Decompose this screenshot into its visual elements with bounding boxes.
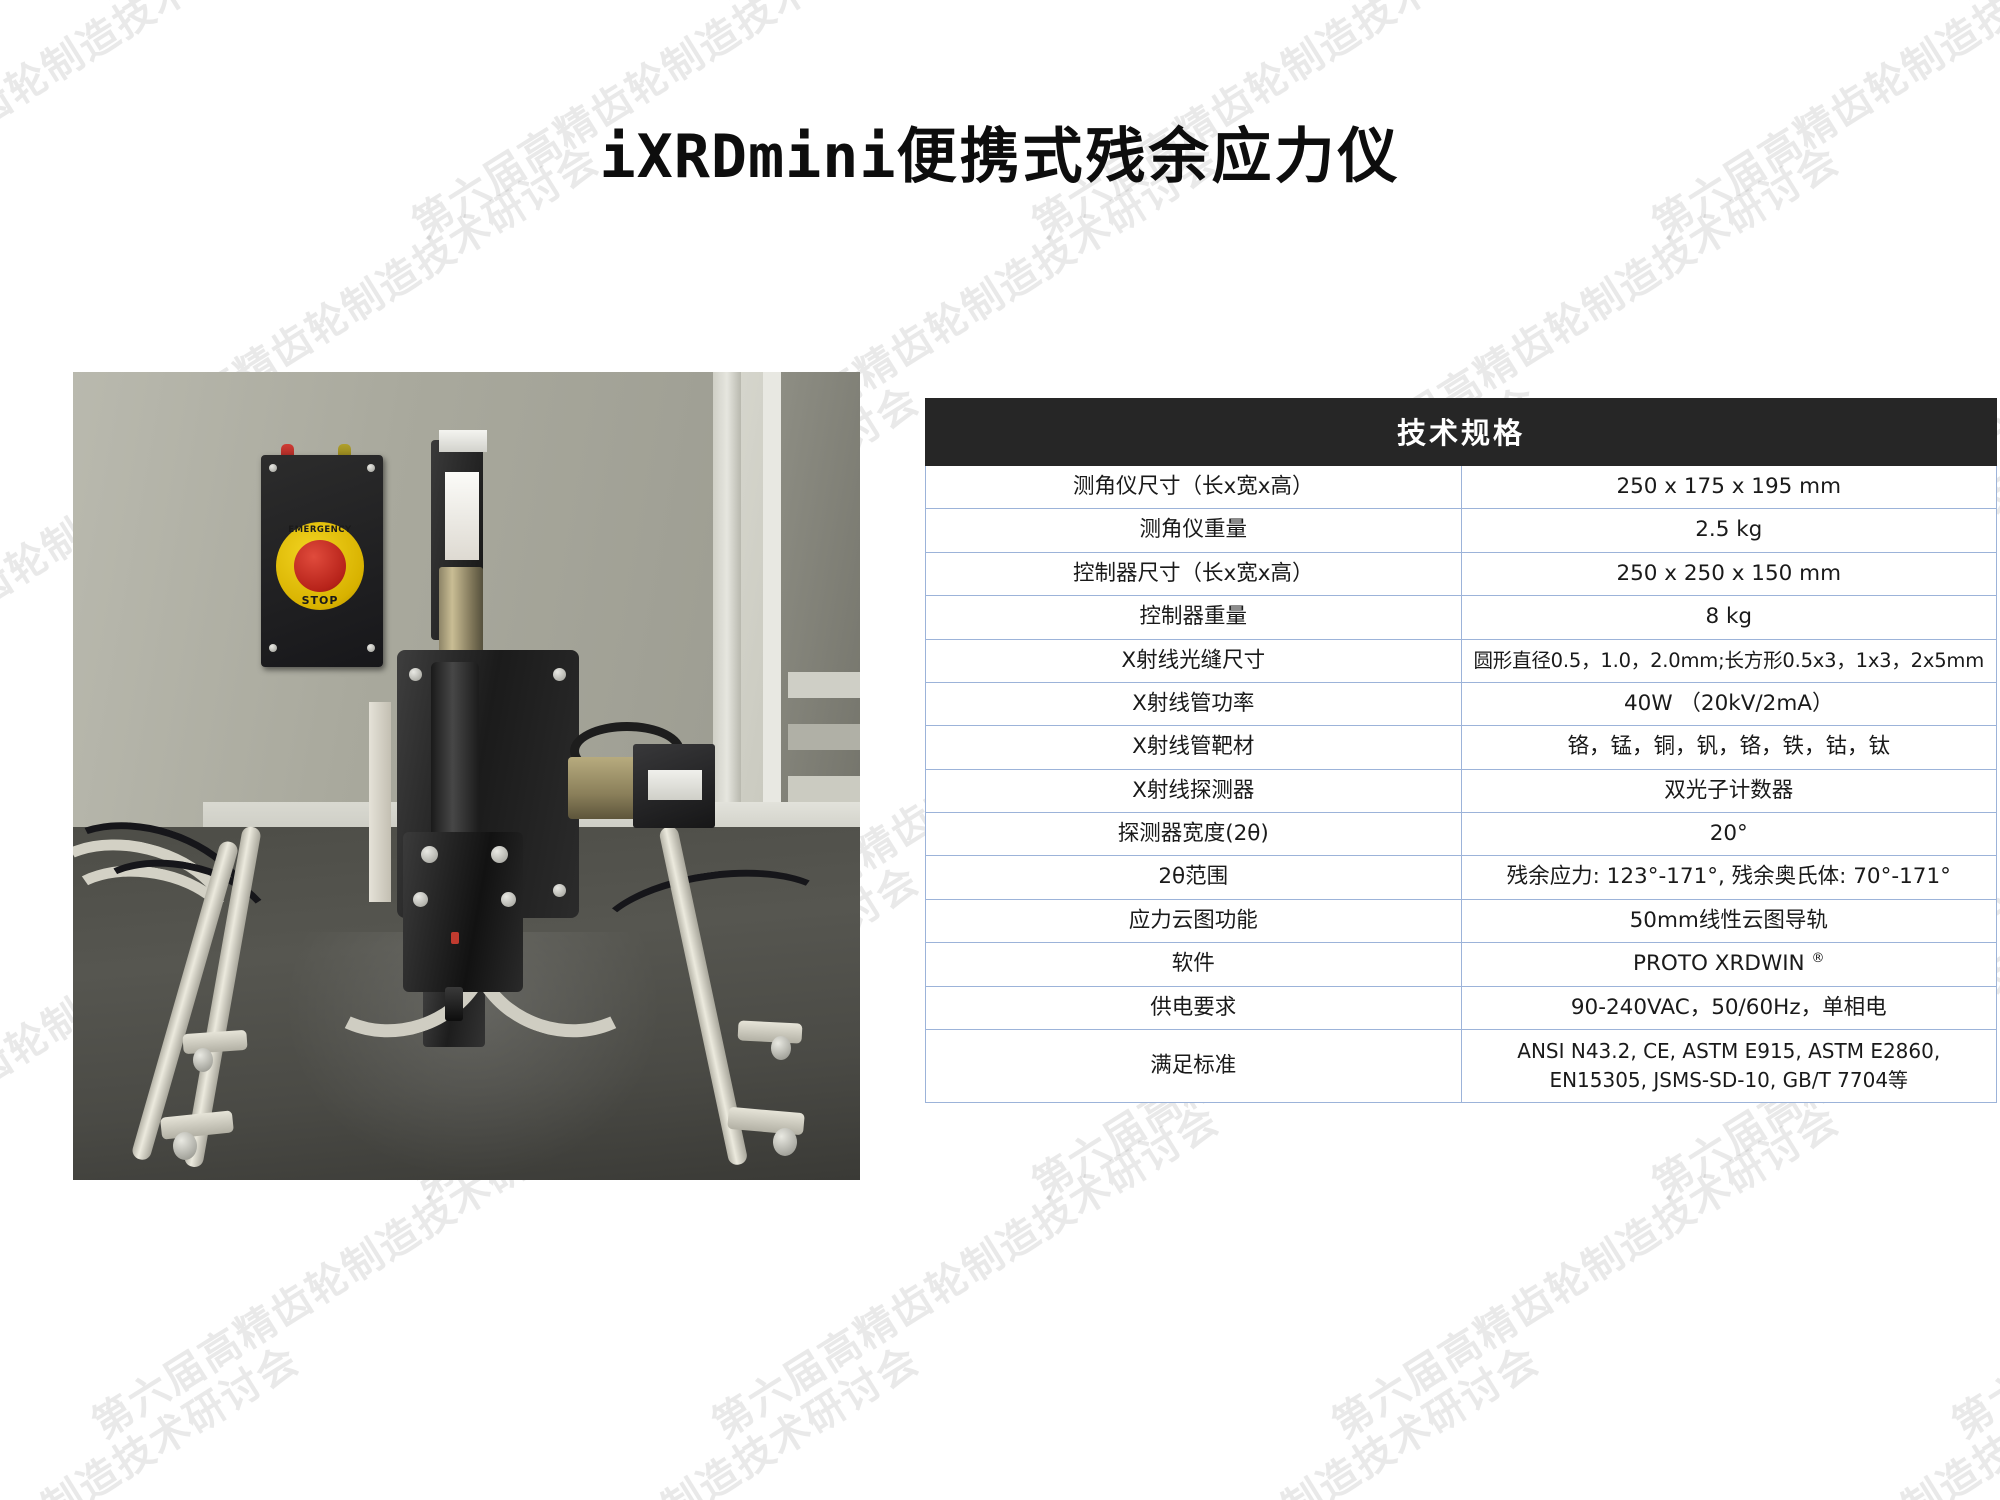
photo-stair-step bbox=[788, 672, 860, 698]
photo-tripod-knob bbox=[173, 1132, 197, 1160]
spec-label: 控制器尺寸（长x宽x高） bbox=[926, 552, 1462, 595]
body-screw bbox=[409, 668, 422, 681]
photo-door-opening bbox=[780, 372, 860, 842]
spec-value: 铬，锰，铜，钒，铬，铁，钴，钛 bbox=[1461, 726, 1997, 769]
spec-value: 2.5 kg bbox=[1461, 509, 1997, 552]
table-row: 探测器宽度(2θ)20° bbox=[926, 813, 1997, 856]
watermark-text: 第六届高精齿轮制造技术研讨会 bbox=[699, 0, 1228, 9]
spec-value: 8 kg bbox=[1461, 596, 1997, 639]
technical-specifications-table: 技术规格 测角仪尺寸（长x宽x高）250 x 175 x 195 mm测角仪重量… bbox=[925, 398, 1997, 1103]
spec-label: 软件 bbox=[926, 943, 1462, 987]
spec-label: 满足标准 bbox=[926, 1030, 1462, 1103]
photo-wall-seam bbox=[713, 372, 741, 842]
product-photo: EMERGENCY STOP bbox=[73, 372, 860, 1180]
watermark-text: 第六届高精齿轮制造技术研讨会 bbox=[1319, 0, 1848, 9]
enclosure-screw bbox=[269, 644, 277, 652]
spec-label: 探测器宽度(2θ) bbox=[926, 813, 1462, 856]
photo-tripod-knob bbox=[773, 1128, 797, 1156]
photo-tripod-foot bbox=[738, 1020, 803, 1043]
enclosure-screw bbox=[367, 644, 375, 652]
enclosure-screw bbox=[367, 464, 375, 472]
table-body: 测角仪尺寸（长x宽x高）250 x 175 x 195 mm测角仪重量2.5 k… bbox=[926, 466, 1997, 1103]
photo-motor-brass bbox=[568, 757, 640, 819]
table-row: 测角仪尺寸（长x宽x高）250 x 175 x 195 mm bbox=[926, 466, 1997, 509]
spec-value: 250 x 250 x 150 mm bbox=[1461, 552, 1997, 595]
spec-label: X射线管功率 bbox=[926, 682, 1462, 725]
spec-label: 2θ范围 bbox=[926, 856, 1462, 899]
table-row: 满足标准ANSI N43.2, CE, ASTM E915, ASTM E286… bbox=[926, 1030, 1997, 1103]
spec-value: 残余应力: 123°-171°, 残余奥氏体: 70°-171° bbox=[1461, 856, 1997, 899]
page-title-model: iXRDmini bbox=[600, 122, 897, 192]
photo-laser-indicator bbox=[451, 932, 459, 944]
spec-label: 测角仪尺寸（长x宽x高） bbox=[926, 466, 1462, 509]
spec-value: 250 x 175 x 195 mm bbox=[1461, 466, 1997, 509]
watermark-text: 第六届高精齿轮制造技术研讨会 bbox=[1939, 1089, 2000, 1450]
table-row: X射线管功率40W （20kV/2mA） bbox=[926, 682, 1997, 725]
table-row: 软件PROTO XRDWIN ® bbox=[926, 943, 1997, 987]
watermark-text: 第六届高精齿轮制造技术研讨会 bbox=[1939, 0, 2000, 9]
table-row: 控制器重量8 kg bbox=[926, 596, 1997, 639]
table-row: X射线管靶材铬，锰，铜，钒，铬，铁，钴，钛 bbox=[926, 726, 1997, 769]
spec-label: X射线探测器 bbox=[926, 769, 1462, 812]
photo-tube-top-label bbox=[439, 430, 487, 452]
photo-collimator-nose bbox=[445, 987, 463, 1021]
watermark-text: 第六届高精齿轮制造技术研讨会 bbox=[1639, 1329, 2000, 1500]
table-row: 2θ范围残余应力: 123°-171°, 残余奥氏体: 70°-171° bbox=[926, 856, 1997, 899]
spec-value: 圆形直径0.5，1.0，2.0mm;长方形0.5x3，1x3，2x5mm bbox=[1461, 639, 1997, 682]
enclosure-screw bbox=[269, 464, 277, 472]
page-title-cjk: 便携式残余应力仪 bbox=[896, 122, 1400, 192]
spec-value: 50mm线性云图导轨 bbox=[1461, 899, 1997, 942]
spec-value: 双光子计数器 bbox=[1461, 769, 1997, 812]
watermark-text: 第六届高精齿轮制造技术研讨会 bbox=[0, 1329, 309, 1500]
head-screw bbox=[501, 892, 516, 907]
watermark-text: 第六届高精齿轮制造技术研讨会 bbox=[79, 0, 608, 9]
spec-label: 测角仪重量 bbox=[926, 509, 1462, 552]
table-row: 测角仪重量2.5 kg bbox=[926, 509, 1997, 552]
emergency-stop-button bbox=[294, 540, 346, 592]
emergency-stop-top-text: EMERGENCY bbox=[276, 525, 364, 535]
table-header-row: 技术规格 bbox=[926, 399, 1997, 466]
watermark-text: 第六届高精齿轮制造技术研讨会 bbox=[1019, 1329, 1548, 1500]
photo-tripod-knob bbox=[771, 1036, 791, 1060]
table-row: 供电要求90-240VAC，50/60Hz，单相电 bbox=[926, 986, 1997, 1029]
table-row: 控制器尺寸（长x宽x高）250 x 250 x 150 mm bbox=[926, 552, 1997, 595]
watermark-text: 第六届高精齿轮制造技术研讨会 bbox=[1319, 1089, 1848, 1450]
photo-door-frame bbox=[763, 372, 781, 842]
spec-label: X射线管靶材 bbox=[926, 726, 1462, 769]
spec-value: 40W （20kV/2mA） bbox=[1461, 682, 1997, 725]
spec-value: PROTO XRDWIN ® bbox=[1461, 943, 1997, 987]
spec-label: X射线光缝尺寸 bbox=[926, 639, 1462, 682]
page-title: iXRDmini便携式残余应力仪 bbox=[0, 108, 2000, 195]
head-screw bbox=[491, 846, 508, 863]
photo-tube-side-label bbox=[445, 472, 479, 560]
photo-tripod-knob bbox=[193, 1048, 213, 1072]
photo-brass-cylinder bbox=[439, 567, 483, 659]
emergency-stop-bottom-text: STOP bbox=[276, 594, 364, 607]
table-header-title: 技术规格 bbox=[926, 399, 1997, 466]
photo-stair-step bbox=[788, 724, 860, 750]
table-row: X射线光缝尺寸圆形直径0.5，1.0，2.0mm;长方形0.5x3，1x3，2x… bbox=[926, 639, 1997, 682]
spec-value: 90-240VAC，50/60Hz，单相电 bbox=[1461, 986, 1997, 1029]
table-row: 应力云图功能50mm线性云图导轨 bbox=[926, 899, 1997, 942]
table-row: X射线探测器双光子计数器 bbox=[926, 769, 1997, 812]
spec-value: ANSI N43.2, CE, ASTM E915, ASTM E2860,EN… bbox=[1461, 1030, 1997, 1103]
spec-value: 20° bbox=[1461, 813, 1997, 856]
watermark-text: 第六届高精齿轮制造技术研讨会 bbox=[399, 1329, 928, 1500]
spec-label: 供电要求 bbox=[926, 986, 1462, 1029]
spec-label: 控制器重量 bbox=[926, 596, 1462, 639]
body-screw bbox=[553, 668, 566, 681]
spec-label: 应力云图功能 bbox=[926, 899, 1462, 942]
photo-motor-label bbox=[648, 770, 702, 800]
head-screw bbox=[413, 892, 428, 907]
head-screw bbox=[421, 846, 438, 863]
